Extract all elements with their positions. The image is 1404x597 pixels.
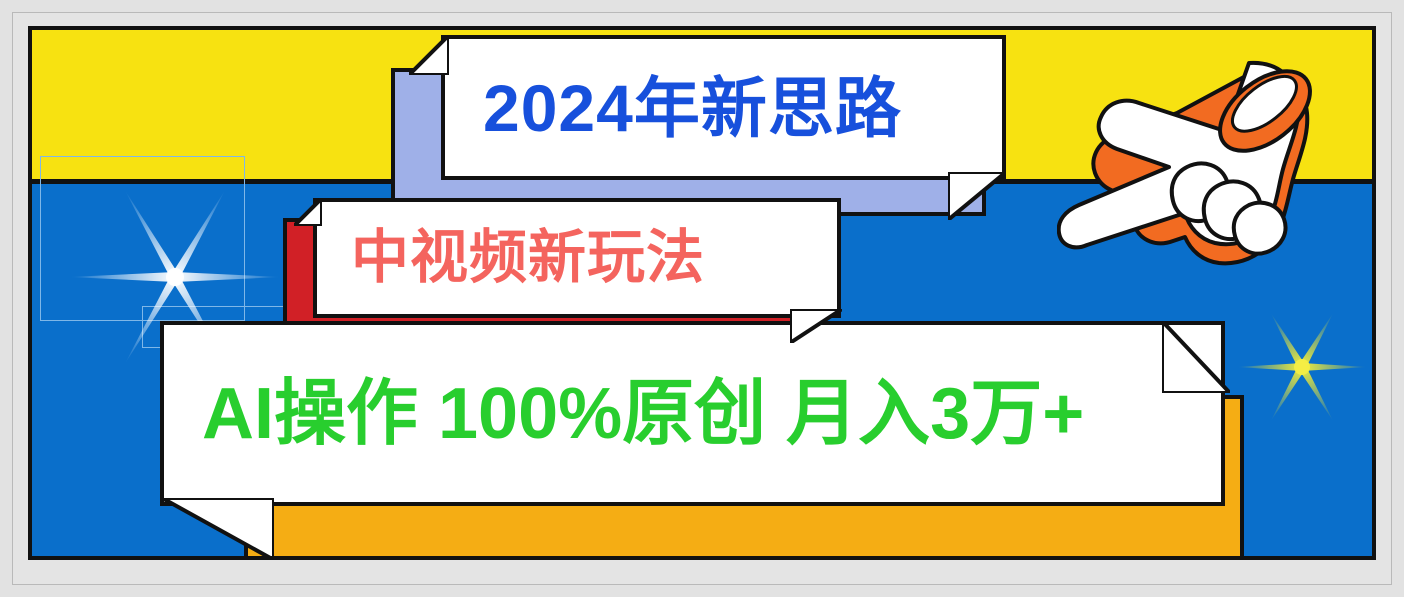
ribbon-3-plate: AI操作 100%原创 月入3万+ xyxy=(160,321,1225,506)
headline-ribbon-2: 中视频新玩法 xyxy=(280,196,880,341)
ribbon-2-fold-bottom-right xyxy=(790,309,842,343)
ribbon-2-fold-top-left xyxy=(294,198,322,226)
ribbon-3-fold-bottom-left xyxy=(162,498,274,560)
ribbon-3-fold-top-right xyxy=(1162,321,1230,393)
headline-text-2: 中视频新玩法 xyxy=(351,229,705,287)
ribbon-2-plate: 中视频新玩法 xyxy=(313,198,841,318)
poster-canvas: 2024年新思路 中视频新玩法 AI操作 100%原创 月入3万+ xyxy=(28,26,1376,560)
headline-text-3: AI操作 100%原创 月入3万+ xyxy=(202,378,1084,450)
headline-ribbon-1: 2024年新思路 xyxy=(387,32,1007,222)
pointing-hand-icon xyxy=(1057,55,1327,280)
ribbon-1-fold-bottom-right xyxy=(948,172,1006,220)
headline-ribbon-3: AI操作 100%原创 月入3万+ xyxy=(142,318,1247,560)
ribbon-1-fold-top-left xyxy=(409,35,449,75)
headline-text-1: 2024年新思路 xyxy=(483,75,902,141)
poster-outer-frame: 2024年新思路 中视频新玩法 AI操作 100%原创 月入3万+ xyxy=(0,0,1404,597)
ribbon-1-plate: 2024年新思路 xyxy=(441,35,1006,180)
